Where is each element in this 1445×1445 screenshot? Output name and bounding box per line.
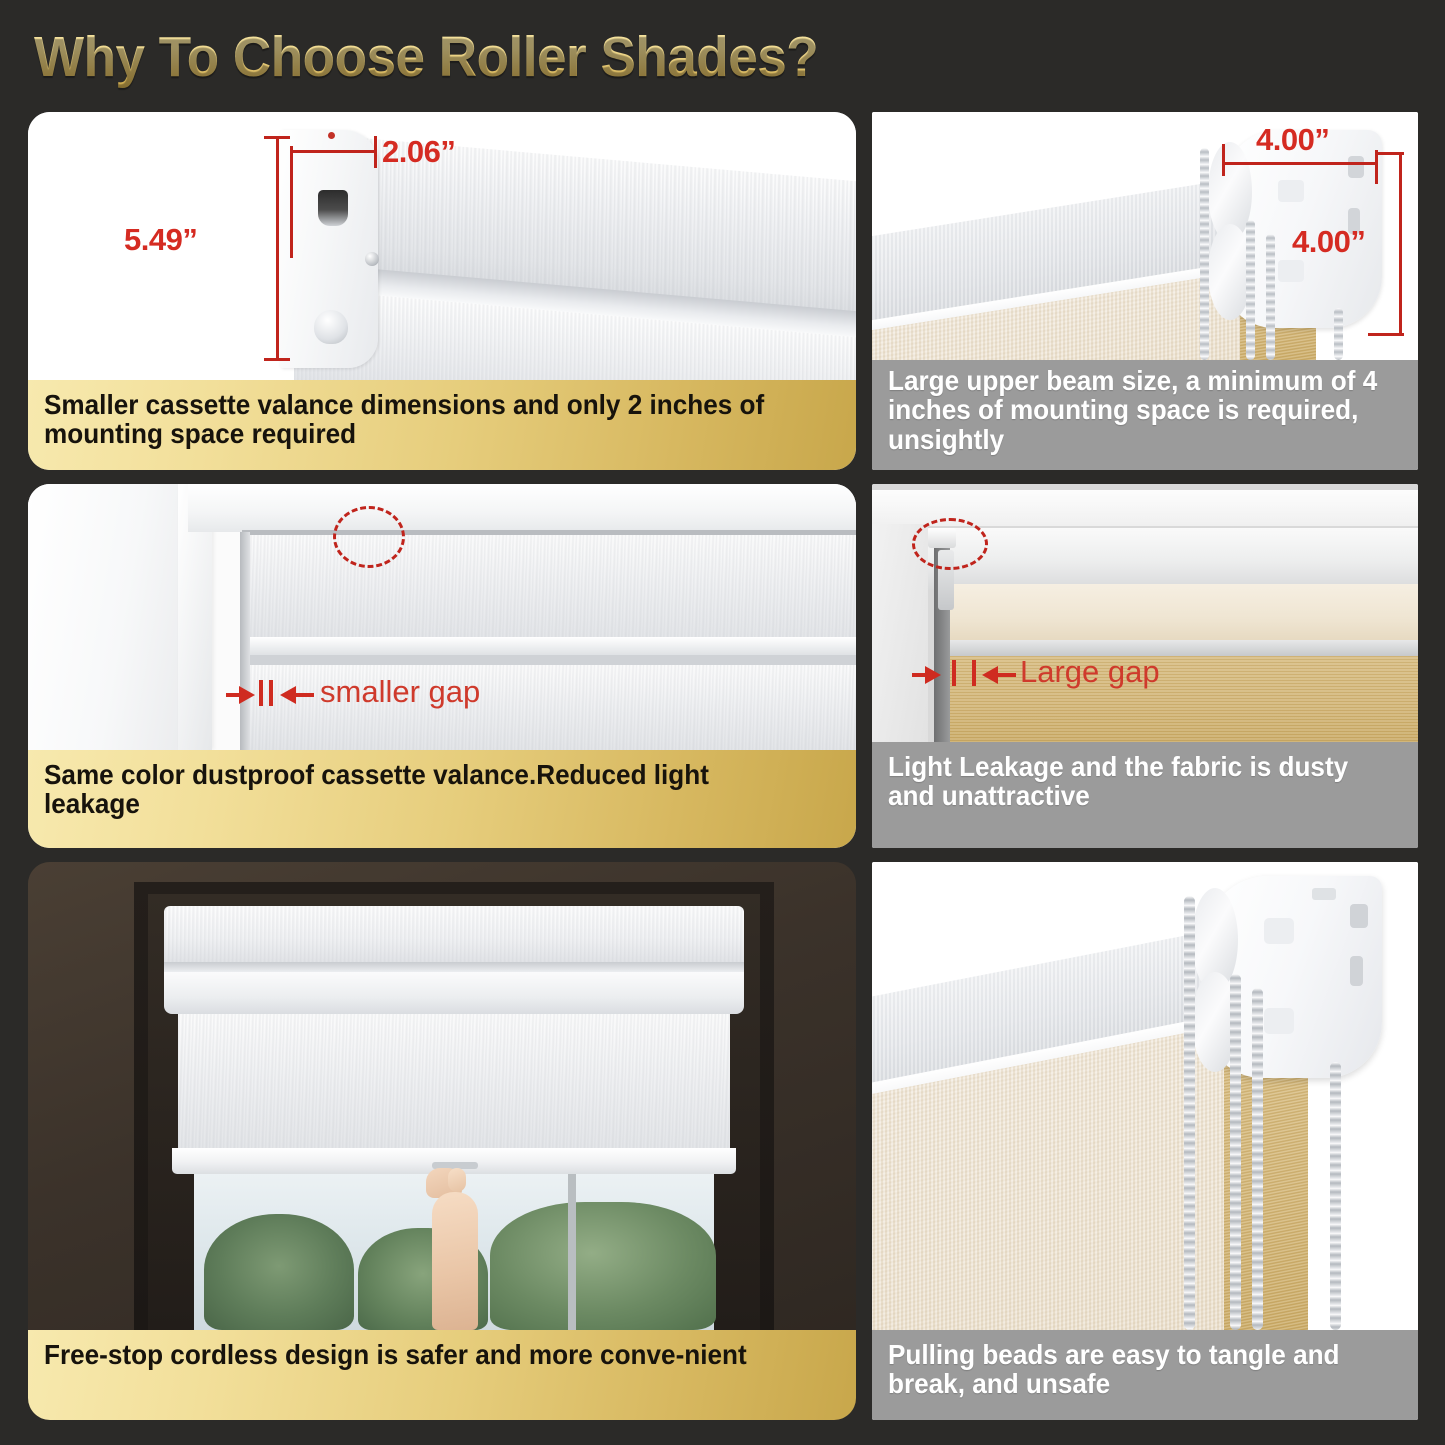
panel-2: 4.00” 4.00” Large upper beam size, a min… [872, 112, 1418, 470]
gap-arrow-left-tail [226, 693, 240, 697]
bead-chain-1 [1184, 896, 1195, 1330]
panel-2-caption-bar: Large upper beam size, a minimum of 4 in… [872, 360, 1418, 470]
panel-2-height-tick-top [1378, 152, 1404, 155]
large-gap-label: Large gap [1020, 654, 1160, 690]
highlight-circle-icon [912, 518, 988, 570]
width-dimension-extension [290, 150, 376, 153]
panel-5: Free-stop cordless design is safer and m… [28, 862, 856, 1420]
panel-1-caption-text: Smaller cassette valance dimensions and … [44, 390, 802, 449]
panel-3: smaller gap Same color dustproof cassett… [28, 484, 856, 848]
panel-5-caption-text: Free-stop cordless design is safer and m… [44, 1340, 802, 1369]
panel-4-caption-text: Light Leakage and the fabric is dusty an… [888, 752, 1378, 811]
gap-tick-left [952, 660, 956, 686]
panel-3-caption-text: Same color dustproof cassette valance.Re… [44, 760, 802, 819]
gap-arrow-left-icon [239, 686, 255, 704]
highlight-circle-icon [333, 506, 405, 568]
width-dimension-tick [374, 136, 377, 168]
panel-1: 2.06” 5.49” Smaller cassette valance dim… [28, 112, 856, 470]
panel-1-image: 2.06” 5.49” [28, 112, 856, 380]
gap-arrow-left-icon [925, 666, 941, 684]
gap-tick-right [972, 660, 976, 686]
gap-tick-left [259, 680, 263, 706]
panel-6: Pulling beads are easy to tangle and bre… [872, 862, 1418, 1420]
panel-3-caption-bar: Same color dustproof cassette valance.Re… [28, 750, 856, 848]
width-dimension-label: 2.06” [382, 134, 455, 170]
panel-5-caption-bar: Free-stop cordless design is safer and m… [28, 1330, 856, 1420]
panel-2-width-label: 4.00” [1256, 122, 1329, 158]
bead-chain-2 [1230, 974, 1241, 1330]
panel-2-height-label: 4.00” [1292, 224, 1365, 260]
gap-arrow-right-tail [998, 673, 1016, 677]
panel-2-caption-text: Large upper beam size, a minimum of 4 in… [888, 366, 1378, 454]
gap-arrow-right-icon [982, 666, 998, 684]
panel-6-caption-bar: Pulling beads are easy to tangle and bre… [872, 1330, 1418, 1420]
bead-chain-3 [1252, 988, 1263, 1330]
panel-2-width-line [1222, 162, 1378, 165]
panel-3-image: smaller gap [28, 484, 856, 750]
panel-1-caption-bar: Smaller cassette valance dimensions and … [28, 380, 856, 470]
panel-2-height-line [1399, 152, 1402, 336]
gap-arrow-right-tail [296, 693, 314, 697]
gap-tick-right [269, 680, 273, 706]
panel-4-image: Large gap [872, 484, 1418, 742]
gap-arrow-left-tail [912, 673, 926, 677]
infographic-page: Why To Choose Roller Shades? 2.06” [0, 0, 1445, 1445]
smaller-gap-label: smaller gap [320, 674, 480, 710]
panel-4: Large gap Light Leakage and the fabric i… [872, 484, 1418, 848]
width-dimension-line [290, 146, 293, 258]
panel-4-caption-bar: Light Leakage and the fabric is dusty an… [872, 742, 1418, 848]
panel-5-image [28, 862, 856, 1330]
panel-2-image: 4.00” 4.00” [872, 112, 1418, 360]
height-dimension-line [276, 136, 279, 360]
gap-arrow-right-icon [280, 686, 296, 704]
panel-6-image [872, 862, 1418, 1330]
panel-2-width-tick-left [1222, 144, 1225, 176]
page-title: Why To Choose Roller Shades? [34, 24, 818, 90]
height-dimension-tick-bottom [264, 358, 290, 361]
panel-6-caption-text: Pulling beads are easy to tangle and bre… [888, 1340, 1378, 1399]
panel-2-height-tick-bottom [1368, 333, 1404, 336]
height-dimension-label: 5.49” [124, 222, 197, 258]
panel-2-width-tick-right [1375, 150, 1378, 184]
bead-chain-4 [1330, 1062, 1341, 1330]
height-dimension-tick-top [264, 136, 290, 139]
